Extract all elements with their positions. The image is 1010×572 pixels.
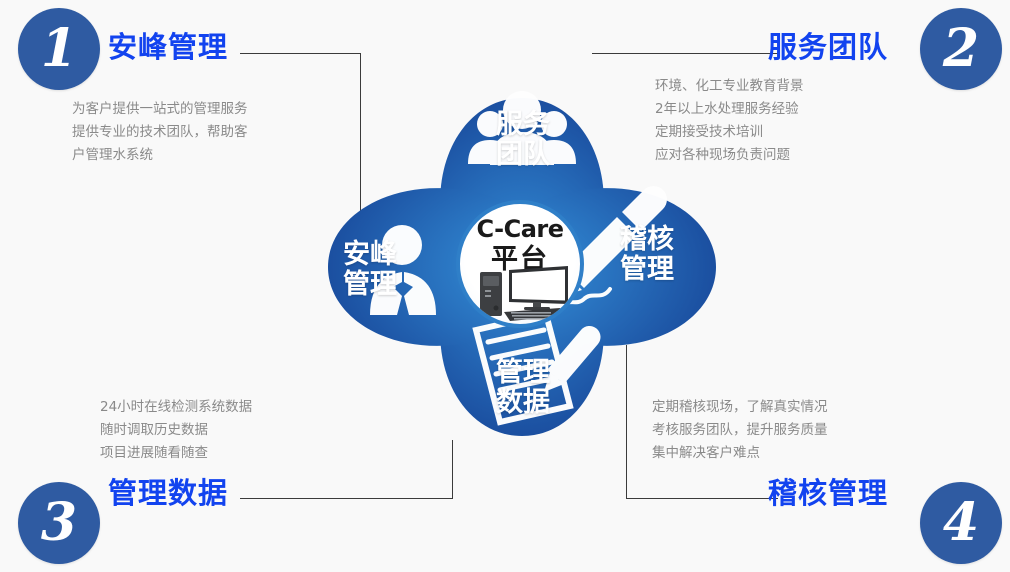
body-line: 提供专业的技术团队，帮助客 bbox=[72, 121, 248, 144]
body-line: 考核服务团队，提升服务质量 bbox=[652, 419, 828, 442]
body-line: 定期稽核现场，了解真实情况 bbox=[652, 396, 828, 419]
desktop-computer-icon bbox=[476, 264, 572, 322]
center-hub: C-Care 平台 bbox=[456, 200, 584, 328]
section-title-1: 安峰管理 bbox=[108, 24, 228, 66]
step-number-badge-4: 4 bbox=[920, 482, 1002, 564]
body-line: 随时调取历史数据 bbox=[100, 419, 252, 442]
body-line: 户管理水系统 bbox=[72, 144, 248, 167]
body-line: 应对各种现场负责问题 bbox=[655, 144, 804, 167]
people-group-icon bbox=[468, 91, 576, 165]
section-body-4: 定期稽核现场，了解真实情况考核服务团队，提升服务质量集中解决客户难点 bbox=[652, 396, 828, 465]
body-line: 集中解决客户难点 bbox=[652, 442, 828, 465]
section-body-3: 24小时在线检测系统数据随时调取历史数据项目进展随看随查 bbox=[100, 396, 252, 465]
infographic-canvas: 服务 团队 安峰 管理 稽核 管理 管理 数据 C-Care 平台 bbox=[0, 0, 1010, 572]
body-line: 2年以上水处理服务经验 bbox=[655, 98, 804, 121]
section-title-2: 服务团队 bbox=[768, 24, 888, 66]
body-line: 为客户提供一站式的管理服务 bbox=[72, 98, 248, 121]
section-title-3: 管理数据 bbox=[108, 470, 228, 512]
section-body-1: 为客户提供一站式的管理服务提供专业的技术团队，帮助客户管理水系统 bbox=[72, 98, 248, 167]
section-body-2: 环境、化工专业教育背景2年以上水处理服务经验定期接受技术培训应对各种现场负责问题 bbox=[655, 75, 804, 167]
step-number-badge-3: 3 bbox=[18, 482, 100, 564]
body-line: 环境、化工专业教育背景 bbox=[655, 75, 804, 98]
step-number-badge-1: 1 bbox=[18, 8, 100, 90]
step-number-badge-2: 2 bbox=[920, 8, 1002, 90]
body-line: 24小时在线检测系统数据 bbox=[100, 396, 252, 419]
section-title-4: 稽核管理 bbox=[768, 470, 888, 512]
body-line: 项目进展随看随查 bbox=[100, 442, 252, 465]
body-line: 定期接受技术培训 bbox=[655, 121, 804, 144]
